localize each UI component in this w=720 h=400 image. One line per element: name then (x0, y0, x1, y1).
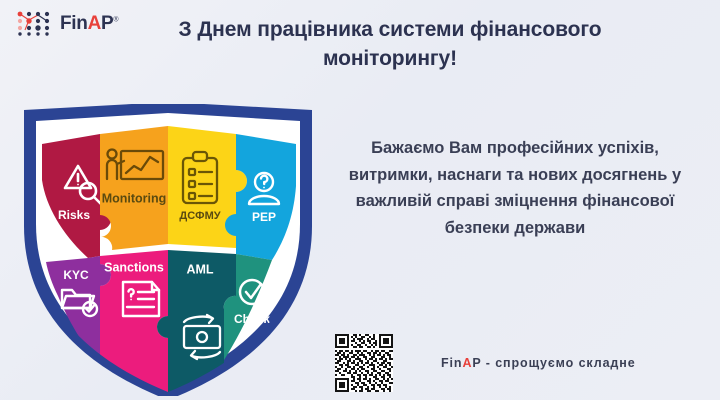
shield-piece-label-monitoring: Monitoring (102, 191, 167, 205)
shield-piece-label-pep: PEP (252, 210, 276, 224)
shield-piece-monitoring[interactable]: Monitoring (100, 126, 168, 250)
registered-mark: ® (113, 16, 118, 23)
brand-name-accent: A (88, 13, 101, 34)
tagline: FinAP - спрощуємо складне (441, 356, 636, 370)
tagline-prefix: Fin (441, 356, 462, 370)
shield-piece-sanctions[interactable]: Sanctions (100, 250, 168, 394)
greeting-message: Бажаємо Вам професійних успіхів, витримк… (330, 135, 700, 242)
tagline-accent: A (462, 356, 472, 370)
page-title: З Днем працівника системи фінансового мо… (130, 16, 650, 74)
shield-piece-label-risks: Risks (58, 208, 90, 222)
tagline-suffix: P - спрощуємо складне (472, 356, 635, 370)
dot-matrix-logo-icon (14, 8, 54, 38)
shield-puzzle-svg: Risks Monitoring (8, 104, 328, 396)
brand-wordmark: FinAP® (60, 14, 118, 33)
footer: FinAP - спрощуємо складне (335, 334, 636, 392)
shield-piece-label-aml: AML (186, 262, 213, 276)
shield-pieces-group: Risks Monitoring (42, 126, 296, 394)
shield-piece-label-dsfmu: ДСФМУ (179, 210, 220, 222)
shield-piece-label-kyc: KYC (63, 268, 89, 282)
shield-graphic: Risks Monitoring (8, 104, 328, 396)
shield-piece-label-sanctions: Sanctions (104, 260, 164, 274)
brand-logo: FinAP® (14, 8, 118, 38)
greeting-poster: FinAP® З Днем працівника системи фінансо… (0, 0, 720, 400)
qr-code-icon[interactable] (335, 334, 393, 392)
brand-name-suffix: P (101, 13, 113, 34)
brand-name-prefix: Fin (60, 13, 88, 34)
shield-piece-label-check: Check (234, 312, 270, 326)
